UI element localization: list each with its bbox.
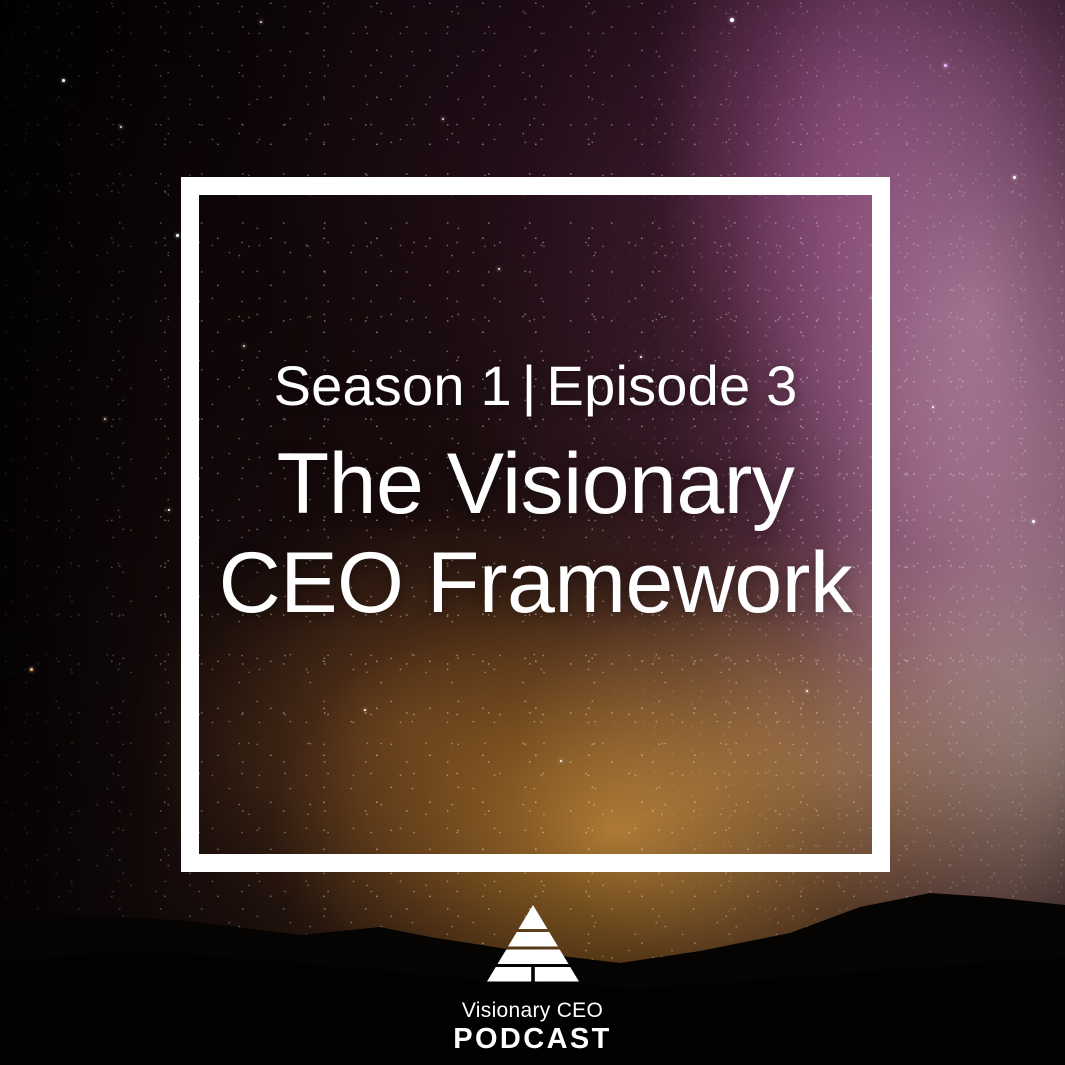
bright-star (104, 418, 106, 420)
podcast-cover-art: Season 1|Episode 3 The Visionary CEO Fra… (0, 0, 1065, 1065)
episode-separator: | (512, 354, 547, 417)
pyramid-logo-icon (477, 903, 589, 995)
bright-star (120, 126, 122, 128)
bright-star (442, 118, 444, 120)
podcast-logo-lockup: Visionary CEO PODCAST (0, 903, 1065, 1055)
cover-text-block: Season 1|Episode 3 The Visionary CEO Fra… (181, 355, 890, 636)
bright-star (260, 21, 262, 23)
bright-star (1032, 520, 1035, 523)
episode-line: Season 1|Episode 3 (181, 355, 890, 418)
bright-star (30, 668, 33, 671)
bright-star (176, 234, 179, 237)
bright-star (168, 509, 170, 511)
bright-star (1013, 176, 1016, 179)
bright-star (730, 18, 734, 22)
logo-wordmark-bottom: PODCAST (453, 1024, 612, 1055)
bright-star (62, 79, 65, 82)
title-line-1: The Visionary (181, 432, 890, 537)
logo-wordmark-top: Visionary CEO (462, 999, 603, 1023)
bright-star (932, 406, 934, 408)
episode-label: Episode 3 (547, 354, 798, 417)
title-line-2: CEO Framework (181, 531, 890, 636)
season-label: Season 1 (274, 354, 512, 417)
bright-star (944, 64, 947, 67)
